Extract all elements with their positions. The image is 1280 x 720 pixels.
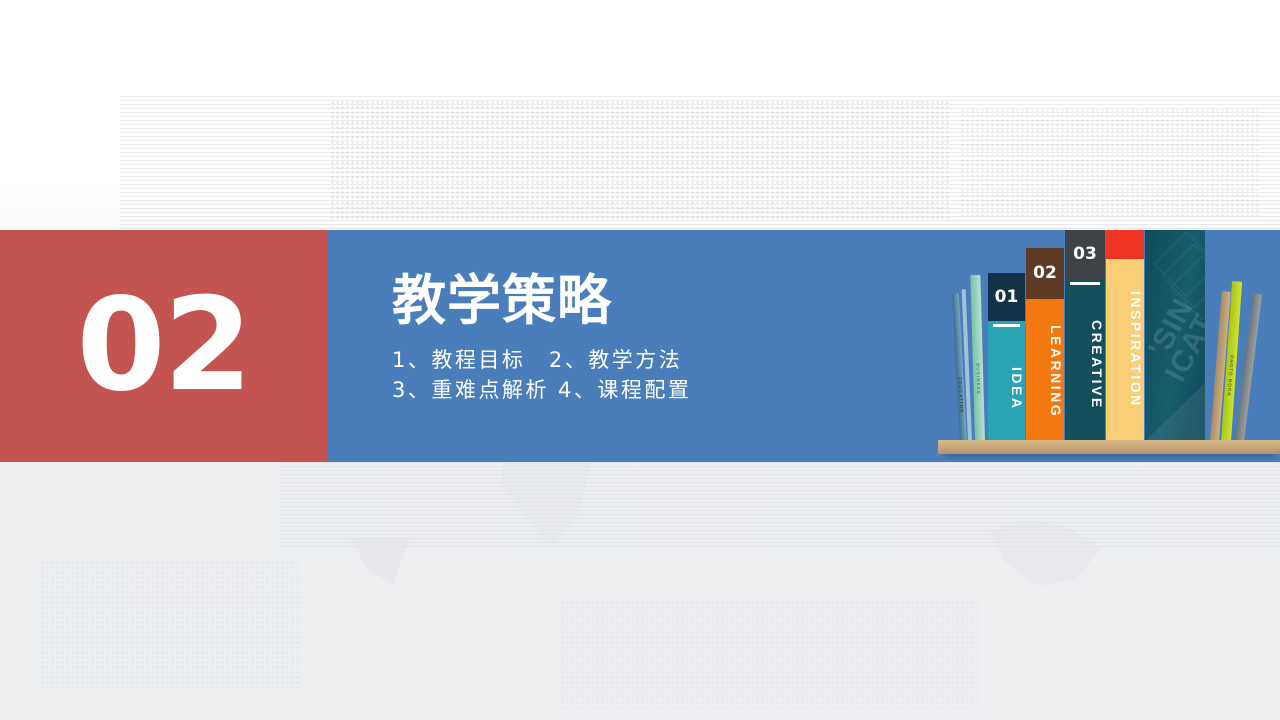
book-idea-top: 01 — [988, 273, 1025, 321]
book-idea-label: IDEA — [988, 347, 1025, 431]
book-learning: 02 LEARNING — [1026, 248, 1064, 441]
page-title: 教学策略 — [392, 272, 952, 330]
map-continent-australia — [990, 520, 1100, 586]
subtitle-line-1: 1、教程目标 2、教学方法 — [392, 346, 952, 376]
section-number: 02 — [0, 230, 327, 462]
subtitle-list: 1、教程目标 2、教学方法 3、重难点解析 4、课程配置 — [392, 346, 952, 406]
book-learning-number: 02 — [1033, 265, 1057, 282]
book-idea: 01 IDEA — [988, 273, 1025, 441]
book-triangle-decor — [1145, 383, 1205, 441]
shelf-plank — [938, 440, 1280, 454]
book-creative-number: 03 — [1073, 246, 1097, 263]
title-block: 教学策略 1、教程目标 2、教学方法 3、重难点解析 4、课程配置 — [392, 272, 952, 406]
bookshelf-illustration: EDUCATION BUSINESS 01 IDEA 02 LEARNING 0… — [938, 230, 1280, 462]
map-dots-southwest — [40, 560, 300, 690]
book-creative-rule — [1070, 282, 1100, 285]
book-inspiration-top — [1106, 230, 1144, 259]
book-inspiration: INSPIRATION — [1106, 230, 1144, 441]
map-dots-north — [330, 100, 950, 220]
thin-book-education-label: EDUCATION — [957, 377, 964, 414]
thin-book-business: BUSINESS — [970, 275, 985, 441]
book-learning-label: LEARNING — [1026, 310, 1064, 434]
book-learning-top: 02 — [1026, 248, 1064, 299]
thin-book-photo-label: PHOTO BOOK — [1227, 355, 1235, 397]
map-continent-south-america — [350, 538, 410, 584]
slide-root: 02 教学策略 1、教程目标 2、教学方法 3、重难点解析 4、课程配置 EDU… — [0, 0, 1280, 720]
map-continent-africa — [500, 462, 592, 548]
map-stripes-north — [120, 96, 1280, 230]
thin-book-business-label: BUSINESS — [975, 363, 981, 395]
book-inspiration-label: INSPIRATION — [1106, 269, 1144, 429]
book-business-communication: 'SIN ICAT — [1145, 230, 1205, 441]
map-dots-southeast — [560, 600, 980, 710]
subtitle-line-2: 3、重难点解析 4、课程配置 — [392, 376, 952, 406]
book-creative-label: CREATIVE — [1065, 302, 1105, 428]
book-idea-rule — [993, 324, 1020, 327]
book-creative-top: 03 — [1065, 230, 1105, 279]
map-stripes-south — [280, 462, 1280, 548]
book-creative: 03 CREATIVE — [1065, 230, 1105, 441]
book-idea-number: 01 — [995, 289, 1019, 306]
map-dots-northeast — [960, 108, 1260, 218]
